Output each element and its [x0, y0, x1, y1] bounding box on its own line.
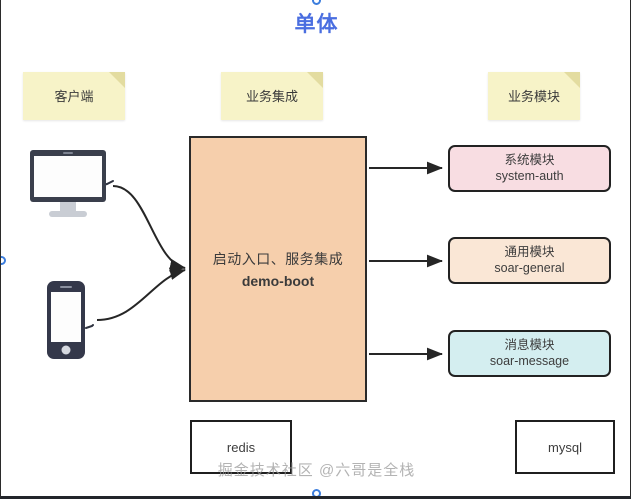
- desktop-monitor-icon: [29, 149, 115, 221]
- center-box-line2: demo-boot: [242, 273, 314, 289]
- resize-handle-bottom[interactable]: [312, 489, 321, 498]
- module-soar-general-cn: 通用模块: [504, 245, 554, 260]
- note-client-label: 客户端: [54, 86, 93, 107]
- note-client[interactable]: 客户端: [23, 72, 125, 120]
- arrow-desktop-to-center: [113, 186, 185, 268]
- module-system-auth-en: system-auth: [495, 168, 563, 184]
- note-module[interactable]: 业务模块: [488, 72, 580, 120]
- module-soar-message-cn: 消息模块: [504, 338, 554, 353]
- center-box-demo-boot[interactable]: 启动入口、服务集成 demo-boot: [189, 136, 367, 402]
- note-fold-icon: [564, 72, 580, 88]
- store-box-redis-label: redis: [227, 440, 255, 455]
- note-integration[interactable]: 业务集成: [221, 72, 323, 120]
- module-soar-message[interactable]: 消息模块 soar-message: [448, 330, 611, 377]
- module-soar-general-en: soar-general: [494, 260, 564, 276]
- module-system-auth-cn: 系统模块: [504, 153, 554, 168]
- note-module-label: 业务模块: [508, 86, 560, 107]
- module-system-auth[interactable]: 系统模块 system-auth: [448, 145, 611, 192]
- smartphone-icon: [46, 280, 94, 362]
- arrow-phone-to-center: [97, 270, 185, 320]
- store-box-mysql-label: mysql: [548, 440, 582, 455]
- module-soar-message-en: soar-message: [490, 353, 569, 369]
- note-fold-icon: [307, 72, 323, 88]
- resize-handle-top[interactable]: [312, 0, 321, 5]
- note-fold-icon: [109, 72, 125, 88]
- watermark: 掘金技术社区 @六哥是全栈: [1, 459, 631, 480]
- module-soar-general[interactable]: 通用模块 soar-general: [448, 237, 611, 284]
- note-integration-label: 业务集成: [246, 86, 298, 107]
- diagram-canvas[interactable]: 单体 客户端 业务集成 业务模块 启动入口、服务集成: [0, 0, 631, 499]
- diagram-title: 单体: [1, 8, 631, 38]
- resize-handle-left[interactable]: [0, 256, 6, 265]
- center-box-line1: 启动入口、服务集成: [213, 249, 344, 269]
